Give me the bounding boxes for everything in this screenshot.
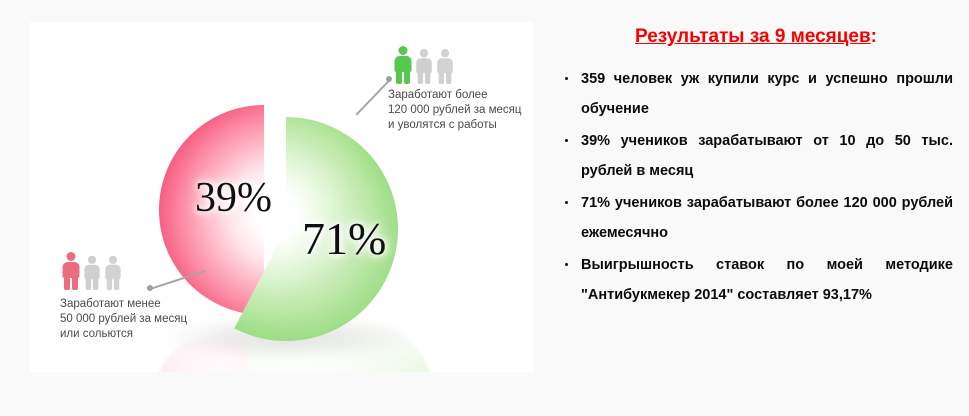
results-title: Результаты за 9 месяцев:	[555, 26, 957, 48]
callout-green-group: Заработают более 120 000 рублей за месяц…	[388, 44, 521, 133]
person-icon-gray-2	[437, 49, 454, 84]
pie-chart-infographic: 39% 71%	[30, 22, 533, 372]
callout-pink-line2: 50 000 рублей за месяц	[60, 312, 187, 327]
person-right-leg-icon	[425, 71, 431, 84]
pie-label-71-percent: 71%	[302, 216, 386, 262]
person-icon-green	[394, 46, 412, 84]
results-bullet-2: 39% учеников зарабатывают от 10 до 50 ты…	[581, 126, 953, 186]
people-icon-group-green	[394, 44, 521, 84]
callout-pink-line3: или сольются	[60, 327, 187, 342]
people-icon-group-pink	[62, 250, 187, 290]
person-left-leg-icon	[64, 276, 70, 290]
callout-green-line3: и уволятся с работы	[388, 118, 521, 133]
callout-green-text: Заработают более 120 000 рублей за месяц…	[388, 88, 521, 133]
person-left-leg-icon	[396, 70, 402, 84]
callout-green-line1: Заработают более	[388, 88, 521, 103]
list-item: 71% учеников зарабатывают более 120 000 …	[581, 188, 953, 248]
person-right-leg-icon	[404, 70, 410, 84]
person-head-icon	[399, 46, 408, 55]
person-icon-pink	[62, 252, 80, 290]
person-left-leg-icon	[418, 71, 424, 84]
pie-label-39-percent: 39%	[195, 177, 272, 219]
results-bullet-4: Выигрышность ставок по моей методике "Ан…	[581, 250, 953, 310]
person-icon-gray-1	[416, 49, 433, 84]
person-head-icon	[88, 256, 96, 264]
person-head-icon	[67, 252, 76, 261]
person-head-icon	[420, 49, 428, 57]
results-bullet-1: 359 человек уж купили курс и успешно про…	[581, 64, 953, 124]
person-left-leg-icon	[439, 71, 445, 84]
results-title-colon: :	[871, 26, 877, 47]
person-left-leg-icon	[107, 277, 112, 290]
callout-pink-text: Заработают менее 50 000 рублей за месяц …	[60, 297, 187, 342]
person-right-leg-icon	[446, 71, 452, 84]
results-title-underlined: Результаты за 9 месяцев	[635, 26, 871, 47]
page-root: 39% 71%	[0, 0, 969, 416]
callout-green-line2: 120 000 рублей за месяц	[388, 103, 521, 118]
person-right-leg-icon	[93, 277, 98, 290]
person-right-leg-icon	[72, 276, 78, 290]
callout-pink-line1: Заработают менее	[60, 297, 187, 312]
person-right-leg-icon	[114, 277, 119, 290]
person-head-icon	[441, 49, 449, 57]
person-icon-gray-2	[105, 256, 121, 290]
person-head-icon	[109, 256, 117, 264]
results-panel: Результаты за 9 месяцев: 359 человек уж …	[555, 16, 957, 312]
results-bullet-3: 71% учеников зарабатывают более 120 000 …	[581, 188, 953, 248]
callout-pink-group: Заработают менее 50 000 рублей за месяц …	[60, 250, 187, 342]
list-item: 39% учеников зарабатывают от 10 до 50 ты…	[581, 126, 953, 186]
person-left-leg-icon	[86, 277, 91, 290]
person-icon-gray-1	[84, 256, 100, 290]
list-item: Выигрышность ставок по моей методике "Ан…	[581, 250, 953, 310]
results-bullet-list: 359 человек уж купили курс и успешно про…	[555, 64, 957, 310]
list-item: 359 человек уж купили курс и успешно про…	[581, 64, 953, 124]
